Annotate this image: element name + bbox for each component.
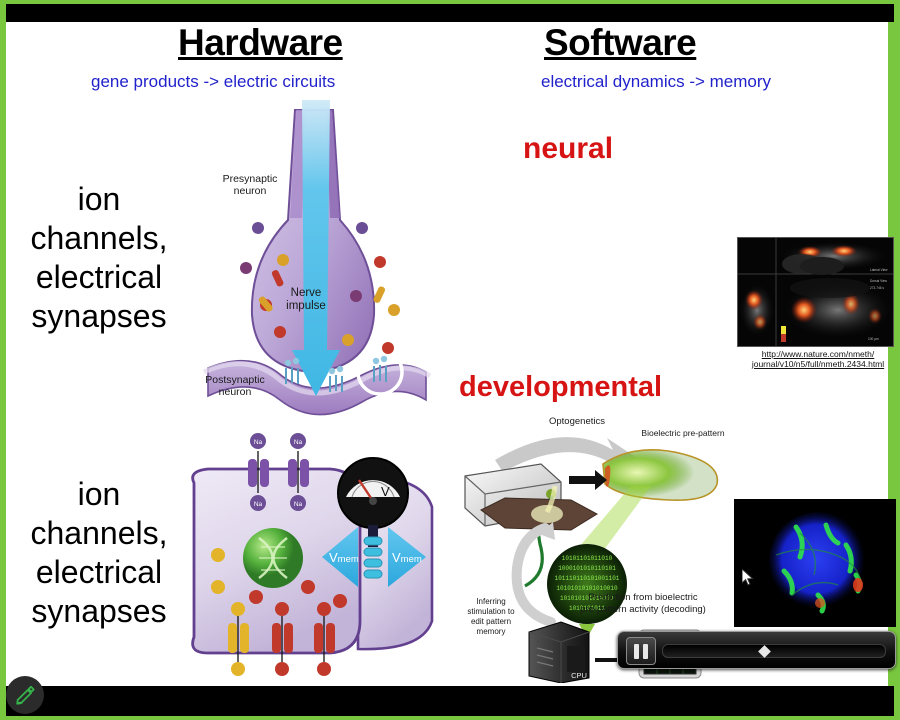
svg-text:Lateral View: Lateral View <box>870 268 888 272</box>
column-title-hardware: Hardware <box>178 22 343 64</box>
svg-text:10101101011010: 10101101011010 <box>562 555 613 562</box>
slide-root: Hardware gene products -> electric circu… <box>0 0 900 720</box>
scrubber-handle[interactable] <box>758 645 771 658</box>
svg-text:memory: memory <box>477 627 506 636</box>
synapse-label-impulse-line1: Nerve <box>291 287 322 299</box>
embryo-voltage-dye-image <box>734 499 896 627</box>
svg-text:stimulation to: stimulation to <box>467 607 515 616</box>
scrubber-track[interactable] <box>662 644 886 658</box>
bioelectric-pre-pattern-blob <box>603 450 717 500</box>
brain-caption-line2: journal/v10/n5/full/nmeth.2434.html <box>752 359 884 369</box>
svg-text:10101010101010010: 10101010101010010 <box>556 585 618 592</box>
feedback-arrow <box>517 528 551 622</box>
svg-text:Prediction from bioelectric: Prediction from bioelectric <box>588 592 698 603</box>
synapse-label-presynaptic-line2: neuron <box>234 185 267 197</box>
pencil-icon <box>14 684 36 706</box>
column-subtitle-hardware: gene products -> electric circuits <box>91 72 335 92</box>
brain-imaging-panel: Lateral View Dorsal View 273.746 s 100 µ… <box>737 237 894 347</box>
column-subtitle-software: electrical dynamics -> memory <box>541 72 771 92</box>
opto-label-optogenetics: Optogenetics <box>549 416 605 427</box>
synapse-label-postsynaptic-line1: Postsynaptic <box>205 374 265 386</box>
svg-text:Dorsal View: Dorsal View <box>870 279 888 283</box>
bottom-black-bar <box>6 686 894 716</box>
pause-icon-bar-left <box>634 644 639 659</box>
svg-text:edit pattern: edit pattern <box>471 617 511 626</box>
voltmeter-letter: V <box>381 484 390 499</box>
video-player-controls[interactable] <box>617 631 896 669</box>
synapse-label-postsynaptic-line2: neuron <box>219 386 252 398</box>
opto-label-pre-pattern: Bioelectric pre-pattern <box>641 428 724 438</box>
cpu-label: CPU <box>571 671 587 680</box>
edit-annotate-button[interactable] <box>6 676 44 714</box>
svg-text:1000101010110101: 1000101010110101 <box>558 565 616 572</box>
synapse-diagram: Presynaptic neuron Nerve impulse Postsyn… <box>190 100 435 420</box>
svg-text:101110110101001101: 101110110101001101 <box>555 575 620 582</box>
arrow-to-pre-pattern <box>569 470 607 490</box>
top-black-bar <box>6 4 894 22</box>
svg-text:Na: Na <box>294 501 303 508</box>
svg-text:pre-pattern activity (decoding: pre-pattern activity (decoding) <box>580 604 706 615</box>
synapse-label-presynaptic-line1: Presynaptic <box>223 173 278 185</box>
side-label-top: ion channels, electrical synapses <box>0 180 198 336</box>
column-title-software: Software <box>544 22 696 64</box>
section-label-developmental: developmental <box>459 371 662 404</box>
cpu-tower: CPU <box>529 622 589 683</box>
svg-text:273.746 s: 273.746 s <box>870 286 884 290</box>
svg-text:100 µm: 100 µm <box>868 337 879 341</box>
svg-text:Inferring: Inferring <box>476 597 505 606</box>
synapse-label-impulse-line2: impulse <box>286 300 326 312</box>
svg-text:Na: Na <box>294 439 303 446</box>
svg-text:Na: Na <box>254 439 263 446</box>
brain-caption-line1: http://www.nature.com/nmeth/ <box>762 349 874 359</box>
cell-vmem-diagram: V Vmem Vmem Na Na Na <box>160 425 435 680</box>
pause-icon-bar-right <box>643 644 648 659</box>
svg-text:Na: Na <box>254 501 263 508</box>
section-label-neural: neural <box>523 132 613 166</box>
brain-panel-source-caption[interactable]: http://www.nature.com/nmeth/ journal/v10… <box>742 349 894 369</box>
pause-button[interactable] <box>626 637 656 665</box>
